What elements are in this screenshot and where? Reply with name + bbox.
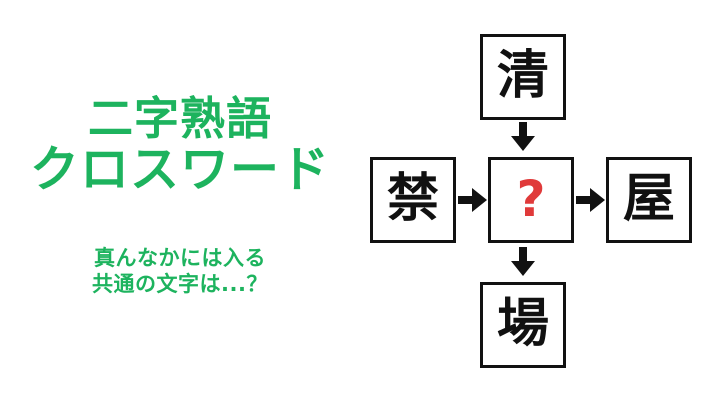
headline: 二字熟語 クロスワード <box>0 96 360 195</box>
cell-left-kanji: 禁 <box>387 173 439 225</box>
subtitle-line-1: 真んなかには入る <box>0 246 360 272</box>
arrow-down-icon <box>510 247 536 277</box>
subtitle-line-2: 共通の文字は...？ <box>0 272 360 298</box>
cell-bottom-kanji: 場 <box>497 298 549 350</box>
cell-right-kanji: 屋 <box>623 173 675 225</box>
arrow-down-icon <box>510 122 536 152</box>
answer-question-mark: ? <box>516 174 545 224</box>
arrow-right-icon <box>576 187 606 213</box>
title-line-2: クロスワード <box>0 144 360 195</box>
cell-right: 屋 <box>606 157 692 243</box>
cell-top-kanji: 清 <box>497 50 549 102</box>
cell-top: 清 <box>480 34 566 120</box>
cell-left: 禁 <box>370 157 456 243</box>
cell-bottom: 場 <box>480 282 566 368</box>
arrow-right-icon <box>458 187 488 213</box>
subtitle: 真んなかには入る 共通の文字は...？ <box>0 246 360 297</box>
crossword-diagram: 清 禁 ? 屋 場 <box>362 26 700 378</box>
cell-center-answer[interactable]: ? <box>488 157 574 243</box>
puzzle-card: 二字熟語 クロスワード 真んなかには入る 共通の文字は...？ 清 禁 ? 屋 … <box>0 0 720 405</box>
title-line-1: 二字熟語 <box>0 96 360 142</box>
